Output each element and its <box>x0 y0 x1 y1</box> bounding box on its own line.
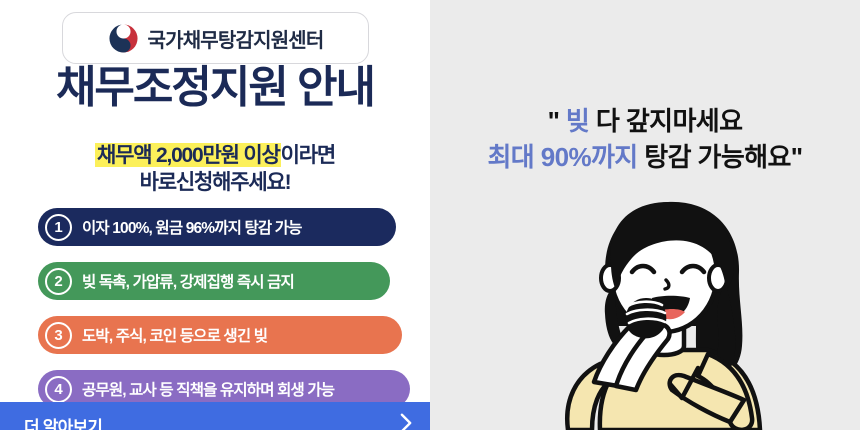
quote-line-1-dark: 다 갚지마세요 <box>596 106 743 136</box>
subheadline-block: 채무액 2,000만원 이상이라면 바로신청해주세요! <box>0 142 430 197</box>
pill-label-2: 빚 독촉, 가압류, 강제집행 즉시 금지 <box>82 270 294 292</box>
chevron-right-icon <box>399 412 414 430</box>
learn-more-cta-bar[interactable]: 더 알아보기 <box>0 402 430 430</box>
benefit-pill-3[interactable]: 3 도박, 주식, 코인 등으로 생긴 빚 <box>38 316 402 354</box>
logo-row: 국가채무탕감지원센터 <box>63 13 368 63</box>
subheadline-line-1: 채무액 2,000만원 이상이라면 <box>0 142 430 169</box>
close-quote-mark: " <box>791 142 803 172</box>
subheadline-line-1-rest: 이라면 <box>281 144 335 167</box>
quote-block: " 빚 다 갚지마세요 최대 90%까지 탕감 가능해요" <box>430 104 860 176</box>
benefit-pill-list: 1 이자 100%, 원금 96%까지 탕감 가능 2 빚 독촉, 가압류, 강… <box>0 208 430 424</box>
benefit-pill-2[interactable]: 2 빚 독촉, 가압류, 강제집행 즉시 금지 <box>38 262 390 300</box>
pill-number-3: 3 <box>45 322 72 349</box>
highlighted-amount-text: 채무액 2,000만원 이상 <box>95 143 281 167</box>
smiling-woman-clasped-hands-illustration <box>548 186 806 430</box>
pill-number-2: 2 <box>45 268 72 295</box>
open-quote-mark: " <box>548 106 560 136</box>
right-ad-panel: " 빚 다 갚지마세요 최대 90%까지 탕감 가능해요" <box>430 0 860 430</box>
organization-logo-box: 국가채무탕감지원센터 <box>62 12 369 64</box>
korea-government-taegeuk-emblem-icon <box>108 23 139 54</box>
organization-name: 국가채무탕감지원센터 <box>148 24 324 53</box>
quote-line-2-dark: 탕감 가능해요 <box>644 142 791 172</box>
pill-number-1: 1 <box>45 214 72 241</box>
headline: 채무조정지원 안내 <box>0 66 430 110</box>
pill-label-1: 이자 100%, 원금 96%까지 탕감 가능 <box>82 216 302 238</box>
quote-line-1-blue: 빚 <box>566 106 589 136</box>
quote-line-2: 최대 90%까지 탕감 가능해요" <box>430 140 860 176</box>
pill-label-3: 도박, 주식, 코인 등으로 생긴 빚 <box>82 324 267 346</box>
benefit-pill-1[interactable]: 1 이자 100%, 원금 96%까지 탕감 가능 <box>38 208 396 246</box>
pill-label-4: 공무원, 교사 등 직책을 유지하며 회생 가능 <box>82 378 334 400</box>
pill-number-4: 4 <box>45 376 72 403</box>
quote-line-2-blue: 최대 90%까지 <box>487 142 637 172</box>
subheadline-line-2: 바로신청해주세요! <box>0 169 430 196</box>
left-ad-panel: 국가채무탕감지원센터 채무조정지원 안내 채무액 2,000만원 이상이라면 바… <box>0 0 430 430</box>
ad-creative-screen: 국가채무탕감지원센터 채무조정지원 안내 채무액 2,000만원 이상이라면 바… <box>0 0 860 430</box>
quote-line-1: " 빚 다 갚지마세요 <box>430 104 860 140</box>
learn-more-label: 더 알아보기 <box>24 413 102 430</box>
